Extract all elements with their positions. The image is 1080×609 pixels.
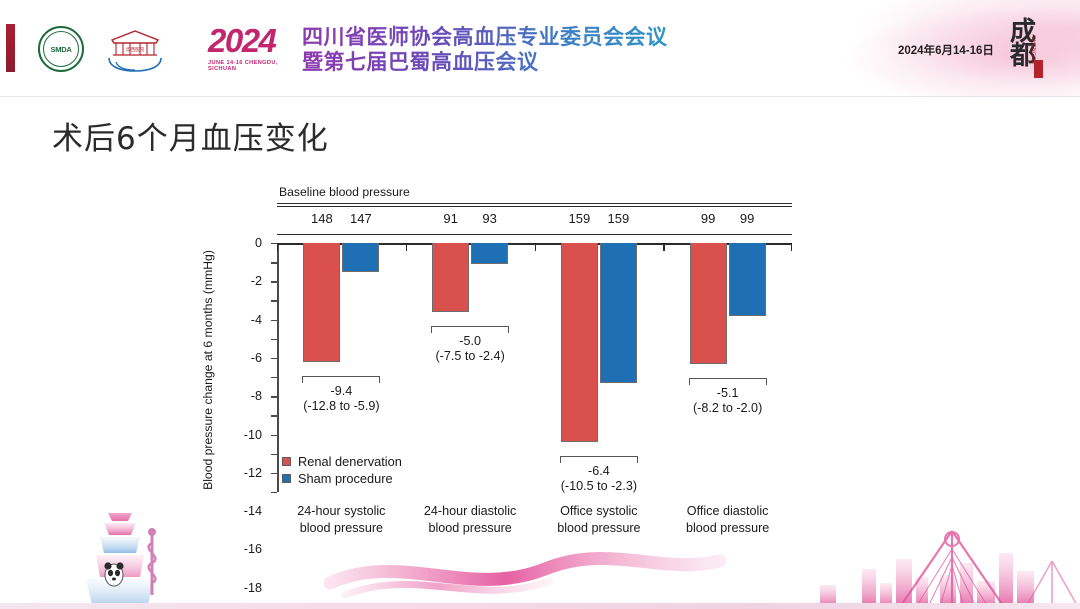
legend-swatch [282, 474, 291, 483]
x-category-label-line: Office diastolic [686, 503, 769, 520]
y-tick: -14 [271, 377, 277, 378]
header-accent-bar [6, 24, 15, 72]
caduceus-icon [148, 528, 156, 595]
group-separator [535, 243, 536, 251]
baseline-value: 147 [350, 211, 372, 226]
difference-value: -6.4 [560, 464, 638, 479]
baseline-value: 159 [569, 211, 591, 226]
y-axis-title-text: Blood pressure change at 6 months (mmHg) [201, 250, 215, 490]
ink-ribbon [330, 558, 720, 583]
annotation-bracket [560, 456, 638, 463]
slide-root: SMDA 华西医院 2024 JUNE 14-16 CHENGDU, SICHU… [0, 0, 1080, 609]
y-tick: -22 [271, 454, 277, 455]
bar-renal-denervation-group-2 [432, 243, 469, 312]
difference-annotation-group-3: -6.4(-10.5 to -2.3) [560, 456, 638, 494]
bar-sham-procedure-group-1 [342, 243, 379, 272]
baseline-rule-end [277, 234, 792, 235]
y-tick-label: -14 [244, 504, 262, 518]
y-tick-label: 0 [255, 236, 262, 250]
pagoda-icon [86, 499, 154, 605]
y-axis-title: Blood pressure change at 6 months (mmHg) [198, 235, 218, 505]
legend-label: Renal denervation [298, 454, 402, 469]
chengdu-seal-romanization: CHENGDU [1030, 36, 1036, 65]
x-category-label-4: Office diastolicblood pressure [686, 503, 769, 537]
difference-value: -9.4 [302, 384, 380, 399]
footer-bottom-bar [0, 603, 1080, 609]
conference-title-line2: 暨第七届巴蜀高血压会议 [302, 50, 732, 75]
legend-item-renal-denervation: Renal denervation [282, 453, 402, 470]
x-category-label-line: 24-hour systolic [297, 503, 385, 520]
difference-confidence-interval: (-12.8 to -5.9) [302, 399, 380, 414]
baseline-value: 148 [311, 211, 333, 226]
x-axis-category-labels: 24-hour systolicblood pressure24-hour di… [277, 503, 792, 549]
bridge-icon-secondary [1026, 561, 1078, 607]
bar-sham-procedure-group-3 [600, 243, 637, 383]
bar-renal-denervation-group-4 [690, 243, 727, 364]
y-tick: -4 [271, 281, 277, 282]
y-tick: -20 [271, 435, 277, 436]
x-category-label-3: Office systolicblood pressure [557, 503, 640, 537]
bar-renal-denervation-group-3 [561, 243, 598, 442]
group-separator [406, 243, 407, 251]
baseline-rule-top [277, 203, 792, 204]
y-tick: -16 [271, 396, 277, 397]
group-separator [663, 243, 664, 251]
y-tick-label: -10 [244, 428, 262, 442]
annotation-bracket [689, 378, 767, 385]
axis-end-tick [277, 243, 278, 251]
y-tick: -10 [271, 339, 277, 340]
year-number: 2024 [208, 24, 298, 58]
axis-end-tick [791, 243, 792, 251]
y-tick: -6 [271, 300, 277, 301]
x-category-label-line: blood pressure [297, 520, 385, 537]
y-tick: -2 [271, 262, 277, 263]
city-skyline [820, 553, 1034, 607]
baseline-value: 159 [608, 211, 630, 226]
legend-swatch [282, 457, 291, 466]
y-tick-label: -16 [244, 542, 262, 556]
x-category-label-line: 24-hour diastolic [424, 503, 516, 520]
chart-legend: Renal denervationSham procedure [282, 453, 402, 487]
legend-item-sham-procedure: Sham procedure [282, 470, 402, 487]
y-tick-label: -8 [251, 389, 262, 403]
bar-sham-procedure-group-2 [471, 243, 508, 264]
baseline-header-table: Baseline blood pressure 1481479193159159… [277, 185, 792, 237]
baseline-value: 91 [443, 211, 457, 226]
sma-logo-label: SMDA [43, 31, 79, 67]
y-tick: -26 [271, 492, 277, 493]
conference-date: 2024年6月14-16日 [898, 42, 994, 58]
x-category-label-line: blood pressure [557, 520, 640, 537]
difference-value: -5.0 [431, 334, 509, 349]
hospital-logo-icon: 华西医院 [104, 24, 166, 74]
annotation-bracket [431, 326, 509, 333]
slide-header: SMDA 华西医院 2024 JUNE 14-16 CHENGDU, SICHU… [0, 0, 1080, 97]
baseline-value: 93 [482, 211, 496, 226]
hospital-logo: 华西医院 [104, 24, 166, 74]
y-axis-line [277, 243, 279, 492]
conference-title-line1: 四川省医师协会高血压专业委员会会议 [302, 25, 732, 50]
baseline-rule-bottom [277, 206, 792, 207]
y-tick-label: -18 [244, 581, 262, 595]
y-tick: -18 [271, 415, 277, 416]
conference-title: 四川省医师协会高血压专业委员会会议 暨第七届巴蜀高血压会议 [302, 25, 732, 75]
page-title: 术后6个月血压变化 [52, 113, 329, 158]
svg-text:华西医院: 华西医院 [126, 46, 145, 53]
difference-confidence-interval: (-8.2 to -2.0) [689, 401, 767, 416]
y-tick-label: -6 [251, 351, 262, 365]
sma-logo: SMDA [38, 26, 84, 72]
difference-value: -5.1 [689, 386, 767, 401]
x-category-label-line: Office systolic [557, 503, 640, 520]
legend-label: Sham procedure [298, 471, 393, 486]
y-tick: -24 [271, 473, 277, 474]
difference-annotation-group-1: -9.4(-12.8 to -5.9) [302, 376, 380, 414]
bar-sham-procedure-group-4 [729, 243, 766, 316]
difference-annotation-group-2: -5.0(-7.5 to -2.4) [431, 326, 509, 364]
y-tick: -8 [271, 320, 277, 321]
bar-chart: Blood pressure change at 6 months (mmHg)… [200, 185, 800, 535]
bridge-icon [890, 531, 1014, 607]
baseline-value: 99 [701, 211, 715, 226]
difference-annotation-group-4: -5.1(-8.2 to -2.0) [689, 378, 767, 416]
x-category-label-line: blood pressure [424, 520, 516, 537]
x-category-label-2: 24-hour diastolicblood pressure [424, 503, 516, 537]
chengdu-seal: 成都 CHENGDU [1010, 20, 1054, 82]
annotation-bracket [302, 376, 380, 383]
y-tick: -12 [271, 358, 277, 359]
year-subtitle: JUNE 14-16 CHENGDU, SICHUAN [208, 60, 298, 72]
year-logo: 2024 JUNE 14-16 CHENGDU, SICHUAN [208, 24, 298, 74]
difference-confidence-interval: (-7.5 to -2.4) [431, 349, 509, 364]
bar-renal-denervation-group-1 [303, 243, 340, 362]
x-category-label-line: blood pressure [686, 520, 769, 537]
difference-confidence-interval: (-10.5 to -2.3) [560, 479, 638, 494]
y-tick-label: -2 [251, 274, 262, 288]
panda-icon [104, 562, 123, 586]
baseline-header-label: Baseline blood pressure [279, 185, 410, 199]
baseline-value: 99 [740, 211, 754, 226]
y-tick-label: -4 [251, 313, 262, 327]
x-category-label-1: 24-hour systolicblood pressure [297, 503, 385, 537]
y-tick-label: -12 [244, 466, 262, 480]
